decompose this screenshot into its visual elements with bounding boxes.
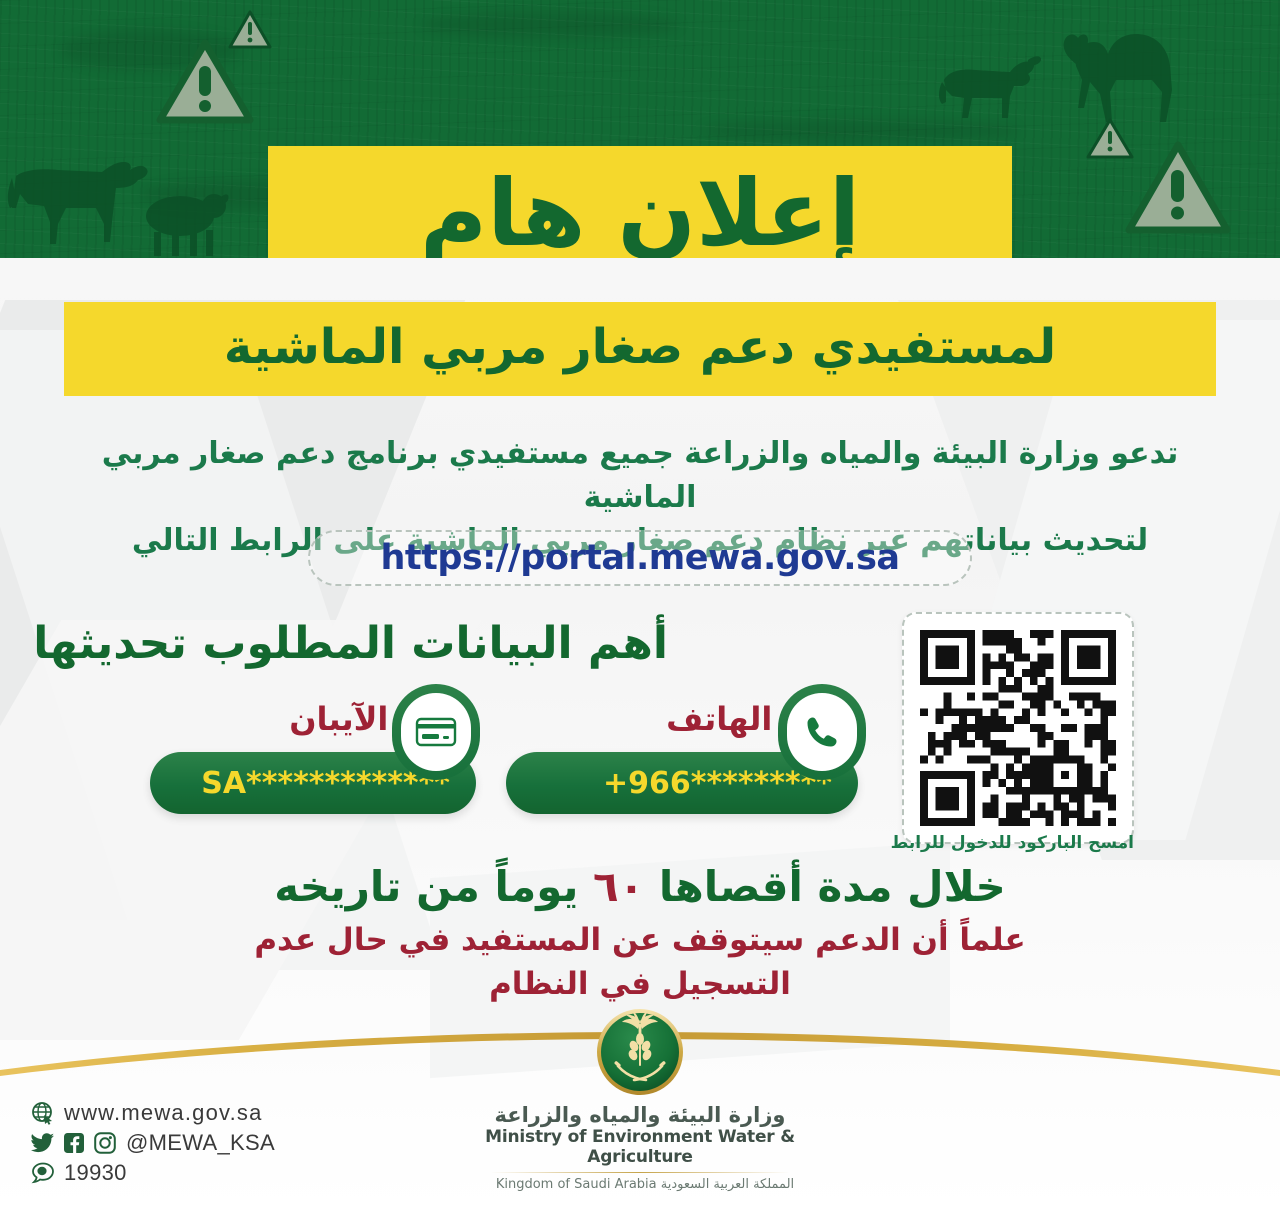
note-line-1: علماً أن الدعم سيتوقف عن المستفيد في حال…	[180, 918, 1100, 962]
call-center-number[interactable]: 19930	[64, 1160, 127, 1186]
qr-code[interactable]	[920, 630, 1116, 826]
qr-caption: امسح الباركود للدخول للرابط	[902, 833, 1134, 853]
phone-badge	[778, 684, 866, 780]
website-text[interactable]: www.mewa.gov.sa	[64, 1100, 263, 1126]
speech-bubble-icon	[30, 1160, 56, 1186]
main-title-band: إعلان هام	[268, 146, 1012, 258]
warning-note: علماً أن الدعم سيتوقف عن المستفيد في حال…	[180, 918, 1100, 1006]
page-title: إعلان هام	[420, 168, 861, 258]
deadline-suffix: يوماً من تاريخه	[274, 862, 593, 911]
ministry-logo-block: وزارة البيئة والمياه والزراعة Ministry o…	[440, 1008, 840, 1192]
goat-silhouette	[936, 52, 1048, 130]
field-iban: رقم الآيبان SA*************	[150, 684, 480, 814]
kingdom-arabic: المملكة العربية السعودية	[661, 1177, 794, 1192]
note-line-2: التسجيل في النظام	[180, 962, 1100, 1006]
paragraph-line-1: تدعو وزارة البيئة والمياه والزراعة جميع …	[64, 432, 1216, 519]
iban-badge	[392, 684, 480, 780]
ministry-name-arabic: وزارة البيئة والمياه والزراعة	[440, 1104, 840, 1127]
portal-url-text[interactable]: https://portal.mewa.gov.sa	[380, 538, 899, 578]
field-phone: رقم الهاتف +966*********	[506, 684, 866, 814]
social-icons-group	[30, 1130, 118, 1156]
subtitle-text: لمستفيدي دعم صغار مربي الماشية	[224, 323, 1056, 375]
contact-social-row[interactable]: @MEWA_KSA	[30, 1128, 275, 1158]
globe-icon	[30, 1100, 56, 1126]
required-data-heading: أهم البيانات المطلوب تحديثها	[33, 618, 668, 669]
saudi-palm-swords-emblem	[596, 1008, 684, 1096]
phone-icon	[787, 693, 857, 771]
credit-card-icon	[401, 693, 471, 771]
subtitle-band: لمستفيدي دعم صغار مربي الماشية	[64, 302, 1216, 396]
announcement-poster: إعلان هام لمستفيدي دعم صغار مربي الماشية…	[0, 0, 1280, 1212]
warning-triangle-icon	[155, 38, 255, 126]
portal-url-box[interactable]: https://portal.mewa.gov.sa	[308, 530, 972, 586]
qr-code-box[interactable]	[902, 612, 1134, 844]
logo-divider	[490, 1172, 790, 1173]
kingdom-english: Kingdom of Saudi Arabia	[496, 1177, 657, 1192]
twitter-icon[interactable]	[30, 1130, 56, 1156]
kingdom-line: المملكة العربية السعودية Kingdom of Saud…	[440, 1177, 840, 1192]
deadline-number: ٦٠	[593, 862, 644, 911]
facebook-icon[interactable]	[61, 1130, 87, 1156]
contact-phone-row[interactable]: 19930	[30, 1158, 275, 1188]
social-handle-text[interactable]: @MEWA_KSA	[126, 1130, 275, 1156]
instagram-icon[interactable]	[92, 1130, 118, 1156]
deadline-prefix: خلال مدة أقصاها	[644, 862, 1005, 911]
deadline-text: خلال مدة أقصاها ٦٠ يوماً من تاريخه	[64, 862, 1216, 912]
header-banner: إعلان هام	[0, 0, 1280, 258]
contact-website-row[interactable]: www.mewa.gov.sa	[30, 1098, 275, 1128]
contact-footer: www.mewa.gov.sa	[30, 1098, 275, 1188]
texture-blotch	[420, 12, 680, 38]
ministry-name-english: Ministry of Environment Water & Agricult…	[440, 1127, 840, 1167]
warning-triangle-icon	[1124, 140, 1232, 236]
sheep-silhouette	[132, 186, 232, 256]
